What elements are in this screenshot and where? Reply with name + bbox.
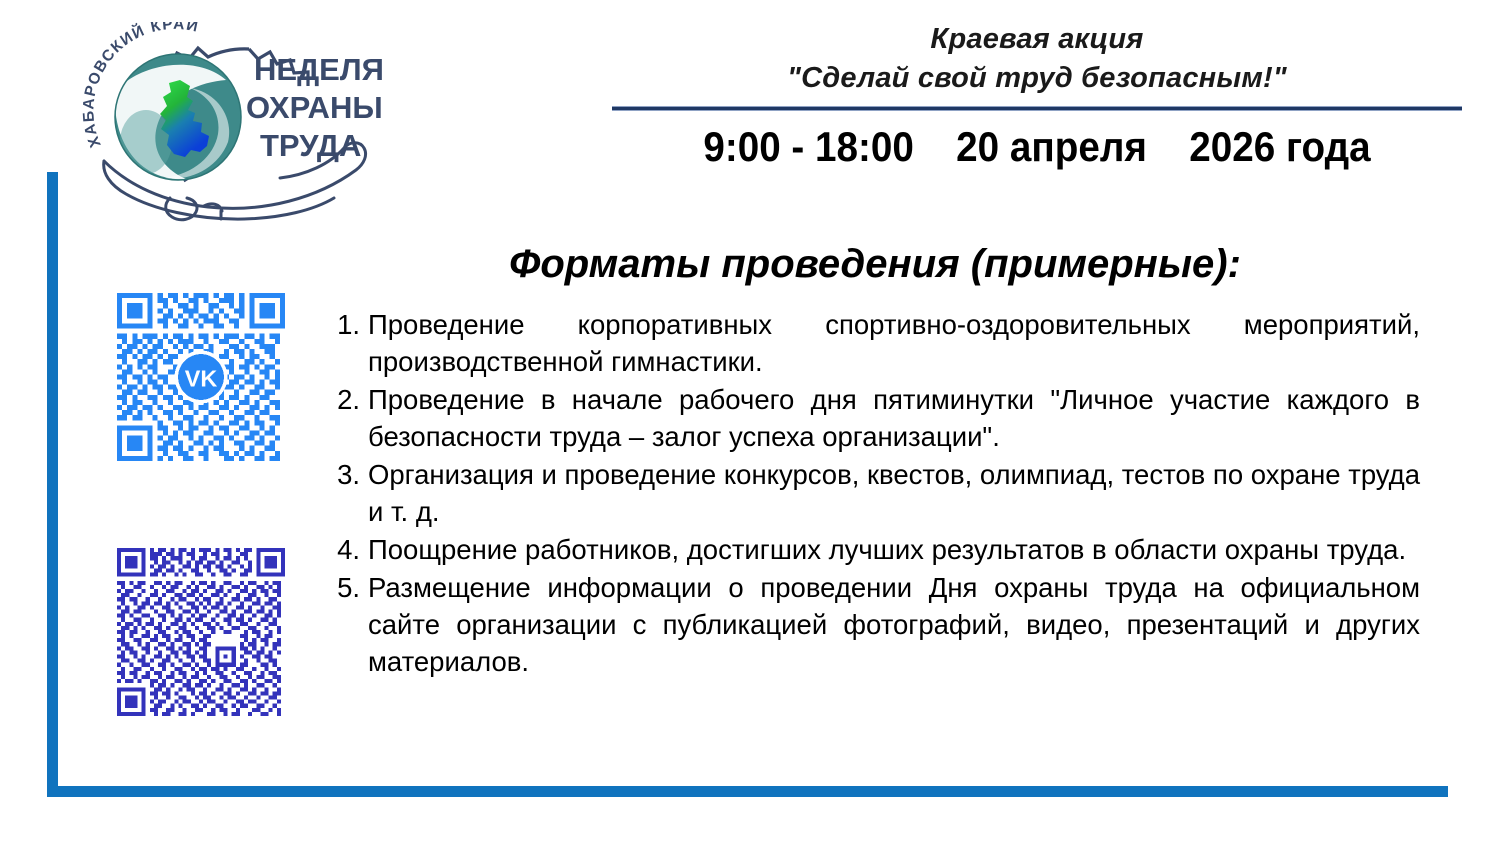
event-year: 2026 года bbox=[1189, 123, 1370, 171]
svg-text:ОХРАНЫ: ОХРАНЫ bbox=[246, 90, 383, 125]
event-kind-title: Краевая акция bbox=[612, 20, 1462, 59]
header-divider bbox=[612, 106, 1462, 111]
list-item: Организация и проведение конкурсов, квес… bbox=[368, 456, 1420, 530]
list-item-text: Организация и проведение конкурсов, квес… bbox=[368, 456, 1420, 530]
event-time: 9:00 - 18:00 bbox=[703, 123, 914, 171]
list-item: Размещение информации о проведении Дня о… bbox=[368, 569, 1420, 680]
list-item-text: Проведение корпоративных спортивно-оздор… bbox=[368, 306, 1420, 380]
event-datetime-row: 9:00 - 18:00 20 апреля 2026 года bbox=[646, 123, 1428, 171]
vk-qr-code[interactable]: VK bbox=[117, 293, 285, 461]
list-item-text: Проведение в начале рабочего дня пятимин… bbox=[368, 381, 1420, 455]
list-item-text: Размещение информации о проведении Дня о… bbox=[368, 569, 1420, 680]
list-item: Проведение корпоративных спортивно-оздор… bbox=[368, 306, 1420, 380]
list-item: Проведение в начале рабочего дня пятимин… bbox=[368, 381, 1420, 455]
frame-left-rule bbox=[47, 172, 58, 797]
event-date: 20 апреля bbox=[956, 123, 1147, 171]
svg-text:VK: VK bbox=[185, 366, 218, 392]
header: Краевая акция "Сделай свой труд безопасн… bbox=[612, 20, 1462, 171]
website-qr-code[interactable] bbox=[117, 548, 285, 716]
event-slogan-title: "Сделай свой труд безопасным!" bbox=[612, 59, 1462, 98]
svg-text:НЕДЕЛЯ: НЕДЕЛЯ bbox=[254, 52, 384, 87]
neделя-ohrany-truda-logo: ХАБАРОВСКИЙ КРАЙ НЕДЕЛЯ ОХРАНЫ ТРУДА bbox=[68, 22, 398, 242]
formats-heading: Форматы проведения (примерные): bbox=[330, 240, 1420, 288]
list-item-text: Поощрение работников, достигших лучших р… bbox=[368, 531, 1420, 568]
formats-list: Проведение корпоративных спортивно-оздор… bbox=[330, 306, 1420, 681]
list-item: Поощрение работников, достигших лучших р… bbox=[368, 531, 1420, 568]
vk-logo-icon: VK bbox=[175, 351, 228, 404]
frame-bottom-rule bbox=[47, 786, 1448, 797]
